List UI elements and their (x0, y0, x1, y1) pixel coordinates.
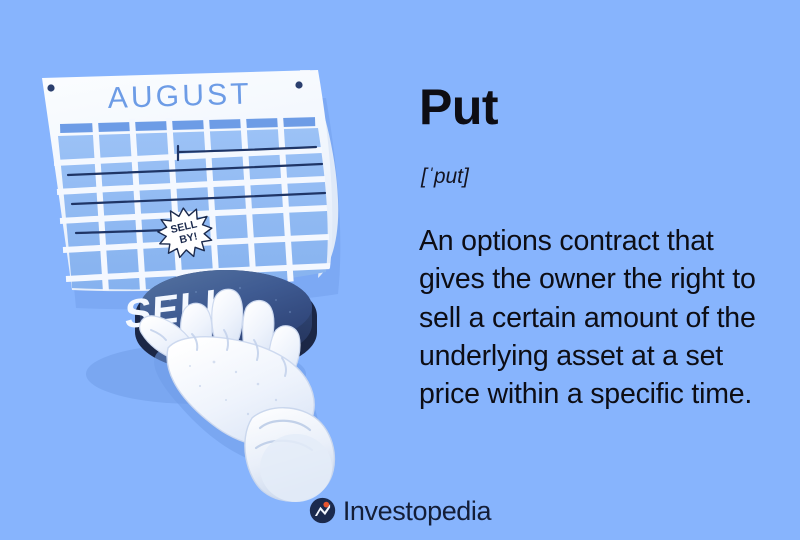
put-illustration: AUGUST SELL BY! (0, 0, 400, 540)
investopedia-wordmark: Investopedia (343, 498, 491, 525)
investopedia-logo[interactable]: Investopedia (0, 480, 800, 540)
investopedia-mark-icon (309, 497, 336, 524)
term-pronunciation: [ˈput] (421, 166, 469, 187)
calendar-pin-right-icon (295, 81, 302, 88)
calendar-pin-left-icon (47, 84, 54, 91)
illustration-svg: AUGUST SELL BY! (0, 0, 400, 540)
calendar-month-label: AUGUST (107, 77, 252, 115)
page-canvas: AUGUST SELL BY! (0, 0, 800, 540)
definition-panel: Put [ˈput] An options contract that give… (419, 0, 784, 540)
term-title: Put (419, 82, 498, 132)
term-definition: An options contract that gives the owner… (419, 222, 777, 414)
